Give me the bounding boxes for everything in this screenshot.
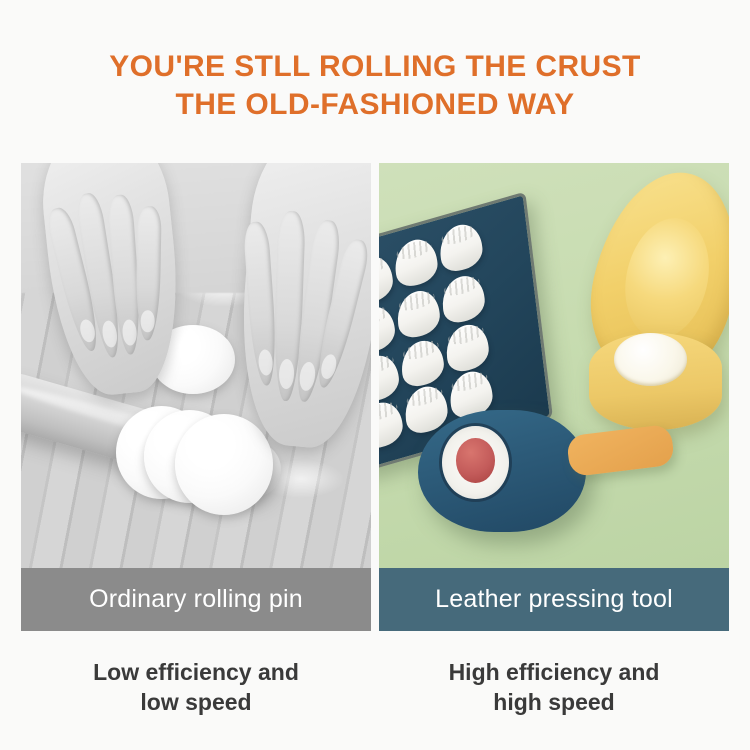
dumpling bbox=[379, 350, 400, 406]
description-left: Low efficiency and low speed bbox=[21, 657, 371, 718]
comparison-column-right: Leather pressing tool High efficiency an… bbox=[379, 163, 729, 718]
yellow-press-handle bbox=[726, 164, 729, 223]
grayscale-rolling-pin-scene bbox=[21, 163, 371, 568]
dumpling bbox=[379, 397, 404, 453]
dough-disc-in-yellow-press bbox=[614, 333, 688, 386]
fingernail bbox=[121, 319, 137, 346]
headline-line-2: THE OLD-FASHIONED WAY bbox=[0, 86, 750, 124]
page-headline: YOU'RE STLL ROLLING THE CRUST THE OLD-FA… bbox=[0, 48, 750, 125]
dumpling bbox=[392, 234, 439, 290]
dumpling bbox=[379, 301, 396, 357]
color-dumpling-press-scene bbox=[379, 163, 729, 568]
meat-filling bbox=[456, 438, 495, 483]
description-right: High efficiency and high speed bbox=[379, 657, 729, 718]
caption-bar-leather-pressing-tool: Leather pressing tool bbox=[379, 568, 729, 631]
dumpling bbox=[439, 271, 486, 327]
photo-leather-pressing-tool bbox=[379, 163, 729, 568]
fingernail bbox=[319, 353, 339, 380]
fingernail bbox=[140, 310, 154, 332]
description-right-line-2: high speed bbox=[379, 687, 729, 717]
blue-press-orange-grip bbox=[566, 424, 675, 477]
caption-bar-ordinary-rolling-pin: Ordinary rolling pin bbox=[21, 568, 371, 631]
fingernail bbox=[78, 317, 97, 343]
dumpling bbox=[443, 320, 490, 376]
description-right-line-1: High efficiency and bbox=[379, 657, 729, 687]
caption-label-left: Ordinary rolling pin bbox=[89, 585, 303, 614]
fingernail bbox=[258, 349, 274, 376]
description-left-line-1: Low efficiency and bbox=[21, 657, 371, 687]
caption-label-right: Leather pressing tool bbox=[435, 585, 673, 614]
dumpling bbox=[398, 335, 445, 391]
finger bbox=[243, 220, 280, 386]
finger bbox=[135, 206, 161, 340]
dumpling bbox=[394, 286, 441, 342]
dumpling bbox=[379, 252, 394, 308]
comparison-section: Ordinary rolling pin Low efficiency and … bbox=[21, 163, 729, 718]
dough-disc-3 bbox=[175, 414, 273, 515]
fingernail bbox=[278, 358, 294, 389]
fingernail bbox=[100, 320, 118, 348]
dumpling bbox=[437, 219, 484, 275]
photo-ordinary-rolling-pin bbox=[21, 163, 371, 568]
right-hand bbox=[231, 163, 371, 452]
headline-line-1: YOU'RE STLL ROLLING THE CRUST bbox=[0, 48, 750, 86]
fingernail bbox=[298, 361, 317, 392]
comparison-column-left: Ordinary rolling pin Low efficiency and … bbox=[21, 163, 371, 718]
description-left-line-2: low speed bbox=[21, 687, 371, 717]
